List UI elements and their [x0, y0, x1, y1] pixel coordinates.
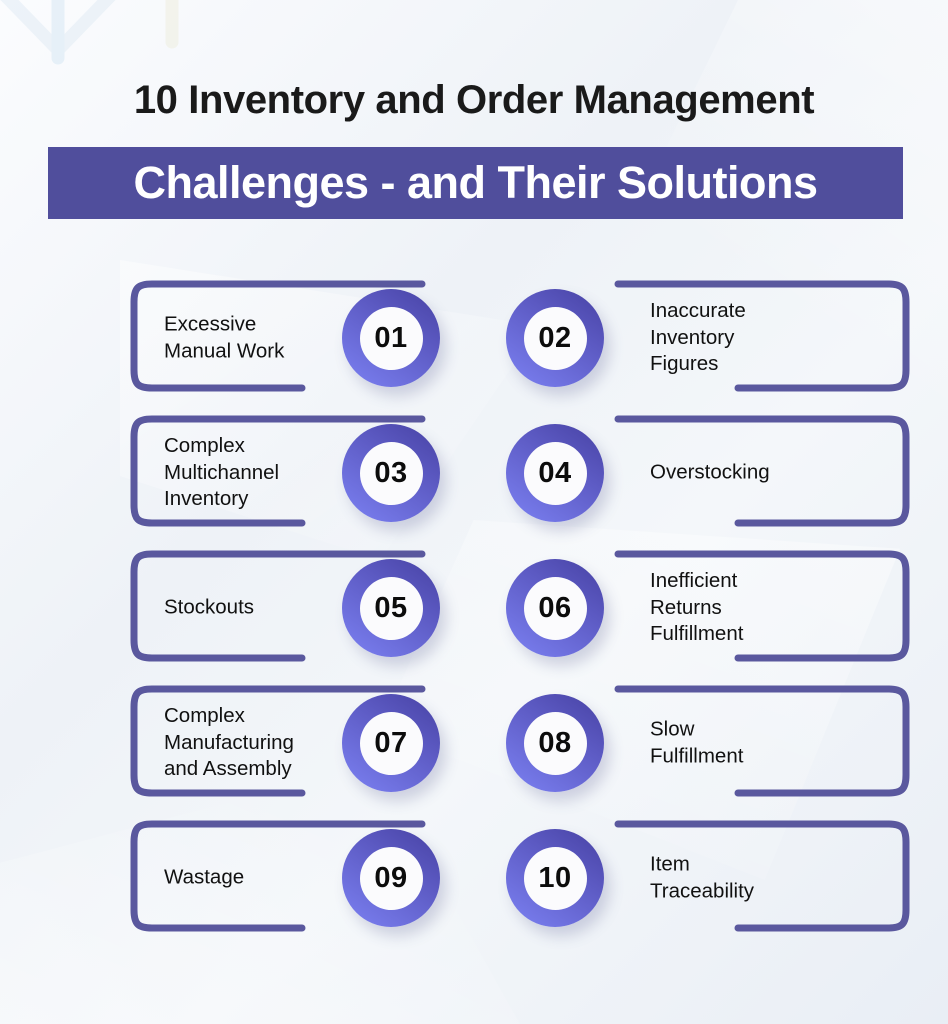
challenge-number-badge[interactable]: 04 [506, 424, 604, 522]
challenge-label: Complex Manufacturing and Assembly [164, 703, 364, 783]
challenge-number: 08 [524, 712, 587, 775]
challenge-label: Overstocking [650, 460, 865, 487]
challenge-number-badge[interactable]: 10 [506, 829, 604, 927]
challenge-item-09[interactable]: Wastage09 [130, 818, 540, 938]
challenge-label: Complex Multichannel Inventory [164, 433, 364, 513]
challenge-number: 05 [360, 577, 423, 640]
challenge-item-04[interactable]: Overstocking04 [500, 413, 910, 533]
challenge-label: Inaccurate Inventory Figures [650, 298, 865, 378]
challenge-number-badge[interactable]: 07 [342, 694, 440, 792]
challenges-grid: Excessive Manual Work01Inaccurate Invent… [0, 278, 948, 953]
challenge-number: 04 [524, 442, 587, 505]
challenge-number: 01 [360, 307, 423, 370]
challenge-number: 06 [524, 577, 587, 640]
challenge-number: 09 [360, 847, 423, 910]
challenge-label: Wastage [164, 865, 364, 892]
challenge-number: 07 [360, 712, 423, 775]
challenge-number-badge[interactable]: 03 [342, 424, 440, 522]
challenge-row: Complex Multichannel Inventory03Overstoc… [0, 413, 948, 548]
challenge-number: 10 [524, 847, 587, 910]
challenge-label: Excessive Manual Work [164, 311, 364, 364]
challenge-item-03[interactable]: Complex Multichannel Inventory03 [130, 413, 540, 533]
title-banner: Challenges - and Their Solutions [48, 147, 903, 219]
challenge-item-06[interactable]: Inefficient Returns Fulfillment06 [500, 548, 910, 668]
challenge-item-08[interactable]: Slow Fulfillment08 [500, 683, 910, 803]
challenge-label: Slow Fulfillment [650, 716, 865, 769]
challenge-row: Excessive Manual Work01Inaccurate Invent… [0, 278, 948, 413]
challenge-number-badge[interactable]: 01 [342, 289, 440, 387]
challenge-number-badge[interactable]: 05 [342, 559, 440, 657]
challenge-label: Item Traceability [650, 851, 865, 904]
challenge-row: Complex Manufacturing and Assembly07Slow… [0, 683, 948, 818]
challenge-number: 03 [360, 442, 423, 505]
page-title-line-1: 10 Inventory and Order Management [0, 78, 948, 123]
challenge-item-01[interactable]: Excessive Manual Work01 [130, 278, 540, 398]
challenge-number-badge[interactable]: 06 [506, 559, 604, 657]
challenge-item-02[interactable]: Inaccurate Inventory Figures02 [500, 278, 910, 398]
challenge-item-05[interactable]: Stockouts05 [130, 548, 540, 668]
challenge-number-badge[interactable]: 02 [506, 289, 604, 387]
challenge-number: 02 [524, 307, 587, 370]
challenge-row: Wastage09Item Traceability10 [0, 818, 948, 953]
challenge-label: Inefficient Returns Fulfillment [650, 568, 865, 648]
challenge-item-07[interactable]: Complex Manufacturing and Assembly07 [130, 683, 540, 803]
challenge-number-badge[interactable]: 09 [342, 829, 440, 927]
page-title-line-2: Challenges - and Their Solutions [133, 157, 817, 209]
challenge-number-badge[interactable]: 08 [506, 694, 604, 792]
challenge-row: Stockouts05Inefficient Returns Fulfillme… [0, 548, 948, 683]
challenge-item-10[interactable]: Item Traceability10 [500, 818, 910, 938]
challenge-label: Stockouts [164, 595, 364, 622]
